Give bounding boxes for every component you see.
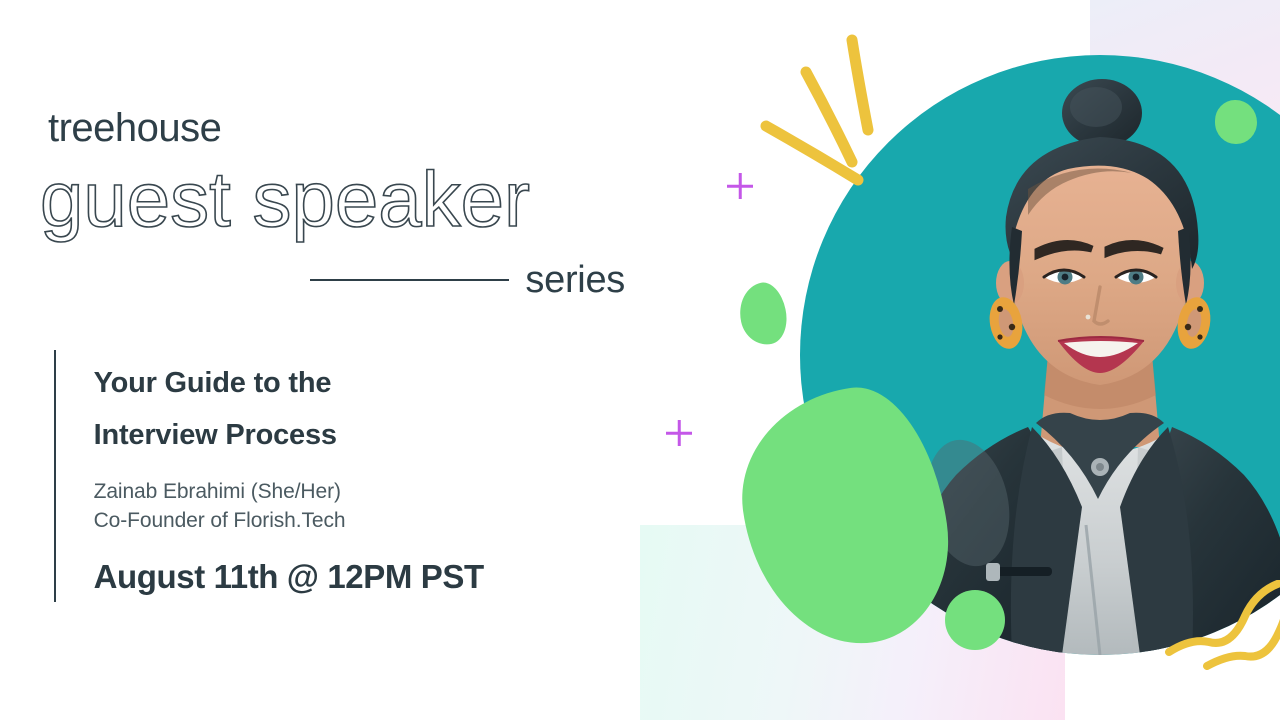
series-lockup: series [310, 255, 625, 305]
green-dot-top [1215, 100, 1257, 144]
magenta-plus-icon-middle [666, 420, 692, 446]
brand-wordmark: treehouse [48, 108, 221, 148]
event-title-line-1: Your Guide to the [94, 364, 484, 402]
series-outline-title: guest speaker [40, 160, 530, 238]
yellow-wave-strokes [1165, 580, 1280, 670]
promo-graphic: treehouse guest speaker series Your Guid… [0, 0, 1280, 720]
event-details-block: Your Guide to the Interview Process Zain… [54, 350, 484, 602]
green-blob-small [734, 279, 792, 349]
event-date-time: August 11th @ 12PM PST [94, 558, 484, 596]
yellow-burst-strokes [740, 30, 920, 210]
speaker-role: Co-Founder of Florish.Tech [94, 506, 484, 536]
event-title-line-2: Interview Process [94, 416, 484, 454]
series-divider-rule [310, 279, 509, 281]
magenta-plus-icon-top [727, 173, 753, 199]
green-dot-bottom [945, 590, 1005, 650]
series-label: series [525, 261, 625, 299]
speaker-name: Zainab Ebrahimi (She/Her) [94, 477, 484, 507]
